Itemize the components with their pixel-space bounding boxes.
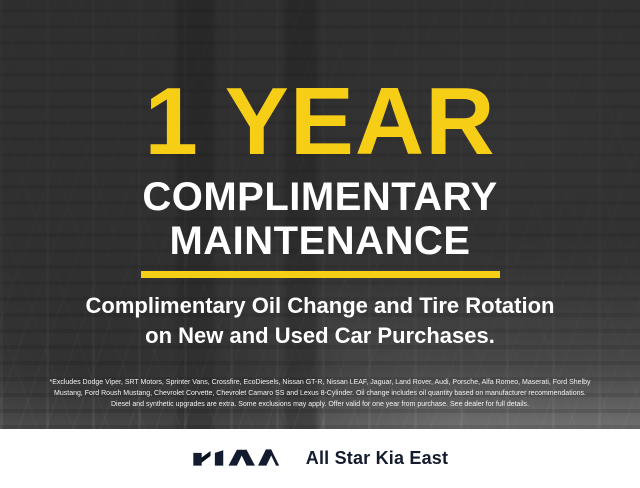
- dealer-logo-lockup[interactable]: All Star Kia East: [192, 448, 448, 470]
- maintenance-promo-banner: 1 YEAR COMPLIMENTARY MAINTENANCE Complim…: [0, 0, 640, 488]
- kia-logo-icon: [192, 448, 280, 470]
- disclaimer-line-2: Mustang, Ford Roush Mustang, Chevrolet C…: [14, 388, 626, 399]
- dealer-footer-bar: All Star Kia East: [0, 429, 640, 488]
- hero-image-area: 1 YEAR COMPLIMENTARY MAINTENANCE Complim…: [0, 0, 640, 429]
- disclaimer-line-1: *Excludes Dodge Viper, SRT Motors, Sprin…: [14, 377, 626, 388]
- headline-maintenance: MAINTENANCE: [0, 220, 640, 262]
- headline-duration: 1 YEAR: [0, 74, 640, 170]
- headline-complimentary: COMPLIMENTARY: [0, 176, 640, 218]
- yellow-divider-rule: [141, 271, 500, 278]
- offer-description-line-2: on New and Used Car Purchases.: [0, 322, 640, 349]
- disclaimer-text: *Excludes Dodge Viper, SRT Motors, Sprin…: [14, 377, 626, 410]
- dealer-name-label: All Star Kia East: [306, 448, 448, 469]
- hero-copy-block: 1 YEAR COMPLIMENTARY MAINTENANCE Complim…: [0, 0, 640, 429]
- disclaimer-line-3: Diesel and synthetic upgrades are extra.…: [14, 399, 626, 410]
- offer-description-line-1: Complimentary Oil Change and Tire Rotati…: [0, 292, 640, 319]
